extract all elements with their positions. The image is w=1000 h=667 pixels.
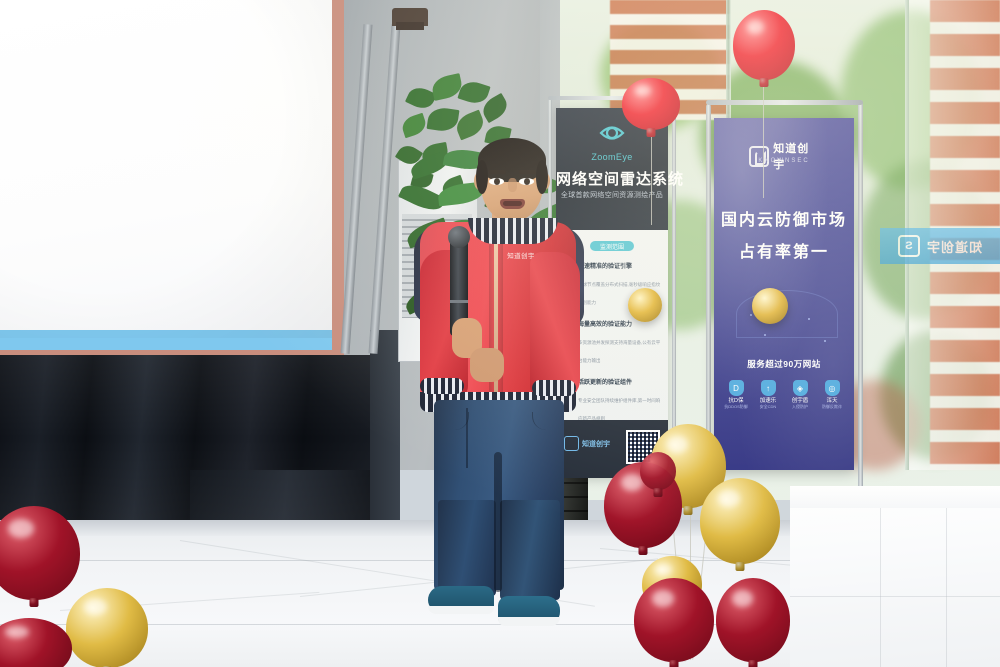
hand-right: [470, 348, 504, 382]
table-top-edge: [790, 486, 1000, 508]
shield-icon: ◈: [793, 380, 808, 396]
product-desc: 防御反欺诈: [818, 405, 846, 410]
jeans-leg: [500, 500, 560, 600]
knownsec-footer-logo: 知道创宇: [564, 436, 610, 451]
product-desc: 抗DDOS防御: [722, 405, 750, 410]
knownsec-logo: 知道创宇: [749, 140, 819, 172]
product-item: ↑ 加速乐 安全CDN: [754, 380, 782, 409]
feature-heading: 海量高效的验证能力: [578, 322, 632, 328]
feature-body: 专业安全团队持续维护组件库,第一时间响应新产品规则: [578, 398, 660, 421]
gold-balloon-decoration: [628, 288, 662, 322]
knownsec-headline-line2: 占有率第一: [714, 238, 854, 262]
product-item: ◎ 浑天 防御反欺诈: [818, 380, 846, 409]
hair-side: [476, 160, 488, 194]
red-balloon: [733, 10, 795, 80]
eye: [489, 178, 504, 185]
banner-stand-crossbar: [706, 100, 863, 105]
microphone-head[interactable]: [448, 226, 470, 248]
knownsec-mark-icon: S: [898, 235, 920, 257]
hair-side: [536, 160, 548, 194]
red-balloon: [622, 78, 680, 130]
eye: [519, 178, 534, 185]
product-item: D 抗D保 抗DDOS防御: [722, 380, 750, 409]
sneaker-sole: [428, 606, 494, 614]
rocket-icon: ↑: [761, 380, 776, 396]
jacket-collar: [468, 218, 558, 244]
knownsec-logo-en: KNOWNSEC: [758, 158, 809, 164]
knownsec-mark-icon: [564, 436, 579, 451]
burgundy-balloon: [716, 578, 790, 662]
jacket-cuff: [420, 378, 464, 394]
projection-screen-shading: [0, 0, 332, 338]
zoomeye-logo-icon: [597, 118, 627, 148]
knownsec-subhead: 服务超过90万网站: [714, 358, 854, 370]
product-item: ◈ 创宇盾 入侵防护: [786, 380, 814, 409]
jeans-leg: [438, 500, 496, 596]
microphone-ring: [450, 300, 468, 303]
feature-heading: 极速精准的验证引擎: [578, 264, 632, 270]
burgundy-balloon: [634, 578, 714, 662]
jeans-inseam-shadow: [494, 452, 502, 592]
mouth-interior: [503, 201, 522, 206]
product-desc: 安全CDN: [754, 405, 782, 410]
tablecloth-fold: [790, 596, 1000, 597]
jacket-cuff: [532, 380, 576, 396]
nose: [508, 178, 517, 192]
banner-stand-pole: [858, 100, 863, 495]
knownsec-product-list: D 抗D保 抗DDOS防御 ↑ 加速乐 安全CDN ◈ 创宇盾 入侵防护 ◎ 浑…: [714, 380, 854, 409]
shield-icon: D: [729, 380, 744, 396]
reflected-company-sign: S 知道创宇: [880, 228, 1000, 264]
ladder-top-bracket: [396, 22, 424, 30]
footer-logo-text: 知道创宇: [582, 439, 610, 449]
feature-body: 多资源池并发探测支持海量设备,公有云平台能力输出: [578, 340, 660, 363]
gold-balloon: [66, 588, 148, 667]
eyebrow: [489, 170, 506, 174]
gold-balloon-decoration: [752, 288, 788, 324]
burgundy-balloon: [640, 452, 676, 490]
sneaker-sole: [498, 617, 560, 626]
globe-icon: ◎: [825, 380, 840, 396]
tablecloth-fold: [880, 508, 881, 667]
product-desc: 入侵防护: [786, 405, 814, 410]
draped-table: [790, 486, 1000, 667]
jacket-sleeve-right: [530, 252, 580, 400]
eyebrow: [519, 170, 536, 174]
reflected-sign-label: 知道创宇: [926, 237, 982, 256]
balloon-string: [651, 125, 652, 225]
knownsec-headline-line1: 国内云防御市场: [714, 206, 854, 230]
jacket-chest-logo: 知道创宇: [498, 250, 544, 260]
zoomeye-section-label: 监测范围: [590, 241, 634, 251]
knownsec-logo-cn: 知道创宇: [773, 140, 819, 172]
dark-wall-column: [370, 330, 400, 540]
balloon-string: [763, 78, 764, 198]
jeans-seam: [466, 408, 468, 468]
event-photo-scene: S 知道创宇: [0, 0, 1000, 667]
tablecloth-fold: [946, 508, 947, 667]
feature-heading: 活跃更新的验证组件: [578, 380, 632, 386]
gold-balloon: [700, 478, 780, 564]
